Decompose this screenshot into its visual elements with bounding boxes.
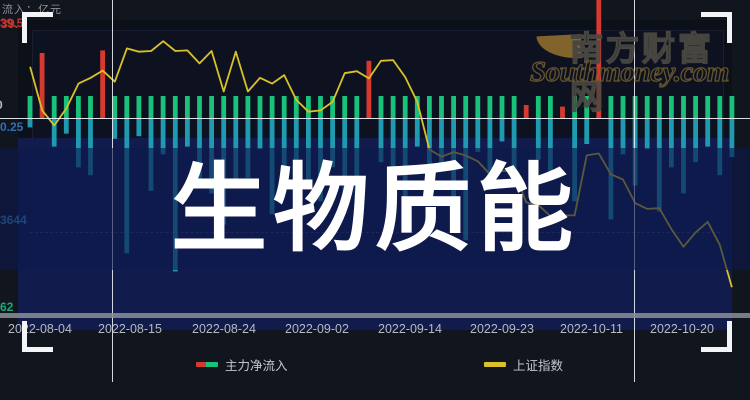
legend-swatch-icon: [484, 362, 506, 367]
corner-bracket-top-left: [22, 12, 53, 43]
legend-label: 上证指数: [513, 355, 563, 374]
chart-bar: [524, 105, 529, 118]
footer-bar: [0, 382, 750, 400]
legend-swatch-icon: [196, 362, 218, 367]
chart-bar: [512, 96, 517, 118]
chart-bar: [403, 96, 408, 118]
chart-bar: [282, 96, 287, 118]
chart-legend: 主力净流入 上证指数: [0, 355, 750, 377]
panel-separator: [0, 313, 750, 318]
y-axis-tick-label: 0: [0, 98, 3, 112]
chart-bar: [705, 118, 710, 147]
chart-bar: [500, 96, 505, 118]
chart-bar: [173, 96, 178, 118]
chart-bar: [221, 96, 226, 118]
chart-bar: [730, 96, 735, 118]
chart-bar: [475, 96, 480, 118]
chart-bar: [233, 96, 238, 118]
chart-bar: [584, 96, 589, 118]
chart-bar: [488, 96, 493, 118]
chart-bar: [270, 96, 275, 118]
y-axis-tick-label: -62: [0, 300, 13, 314]
chart-bar: [100, 50, 105, 118]
chart-bar: [149, 96, 154, 118]
chart-bar: [185, 96, 190, 118]
chart-bar: [717, 96, 722, 118]
chart-bar: [137, 96, 142, 118]
corner-bracket-bottom-left: [22, 321, 53, 352]
chart-bar: [415, 118, 420, 147]
legend-item-shanghai-index[interactable]: 上证指数: [484, 355, 563, 374]
x-axis-tick-label: 2022-09-23: [470, 322, 534, 336]
chart-bar: [28, 96, 33, 118]
corner-bracket-top-right: [701, 12, 732, 43]
chart-bar: [609, 96, 614, 118]
chart-bar: [391, 96, 396, 118]
chart-bar: [379, 96, 384, 118]
chart-bar: [318, 96, 323, 118]
x-axis-tick-label: 2022-09-14: [378, 322, 442, 336]
chart-bar: [500, 118, 505, 141]
x-axis-tick-label: 2022-08-15: [98, 322, 162, 336]
chart-bar: [52, 96, 57, 118]
x-axis-tick-label: 2022-08-24: [192, 322, 256, 336]
chart-bar: [185, 118, 190, 147]
chart-bar: [209, 96, 214, 118]
chart-bar: [112, 96, 117, 118]
chart-bar: [463, 96, 468, 118]
chart-bar: [427, 96, 432, 118]
chart-bar: [28, 118, 33, 127]
chart-bar: [657, 96, 662, 118]
y-axis-tick-label: -0.25: [0, 120, 23, 134]
chart-bar: [548, 96, 553, 118]
chart-bar: [645, 118, 650, 149]
chart-bar: [536, 96, 541, 118]
chart-screenshot: 流入：亿元 -39.5 -39.50-0.25-3644-62 2022-08-…: [0, 0, 750, 400]
chart-bar: [112, 118, 117, 139]
chart-bar: [621, 96, 626, 118]
x-axis: 2022-08-042022-08-152022-08-242022-09-02…: [0, 322, 750, 344]
corner-bracket-bottom-right: [701, 321, 732, 352]
chart-bar: [161, 96, 166, 118]
chart-bar: [137, 118, 142, 136]
chart-bar: [354, 96, 359, 118]
chart-bar: [451, 96, 456, 118]
chart-bar: [342, 96, 347, 118]
y-axis-tick-label: -39.5: [0, 16, 23, 30]
chart-bar: [246, 96, 251, 118]
chart-bar: [197, 96, 202, 118]
chart-bar: [124, 96, 129, 118]
chart-bar: [64, 118, 69, 134]
chart-bar: [681, 96, 686, 118]
x-axis-tick-label: 2022-09-02: [285, 322, 349, 336]
chart-bar: [693, 96, 698, 118]
legend-item-main-inflow[interactable]: 主力净流入: [196, 355, 288, 374]
chart-bar: [572, 96, 577, 118]
chart-bar: [258, 118, 263, 149]
chart-bar: [88, 96, 93, 118]
chart-bar: [669, 96, 674, 118]
chart-bar: [475, 118, 480, 152]
chart-bar: [584, 118, 589, 144]
chart-bar: [560, 107, 565, 118]
chart-bar: [306, 96, 311, 118]
page-title: 生物质能: [0, 150, 750, 268]
chart-bar: [645, 96, 650, 118]
chart-bar: [258, 96, 263, 118]
chart-bar: [367, 61, 372, 118]
chart-bar: [705, 96, 710, 118]
chart-bar: [76, 96, 81, 118]
chart-bar: [596, 0, 601, 118]
chart-bar: [439, 96, 444, 118]
legend-label: 主力净流入: [225, 355, 288, 374]
x-axis-tick-label: 2022-10-11: [560, 322, 623, 336]
